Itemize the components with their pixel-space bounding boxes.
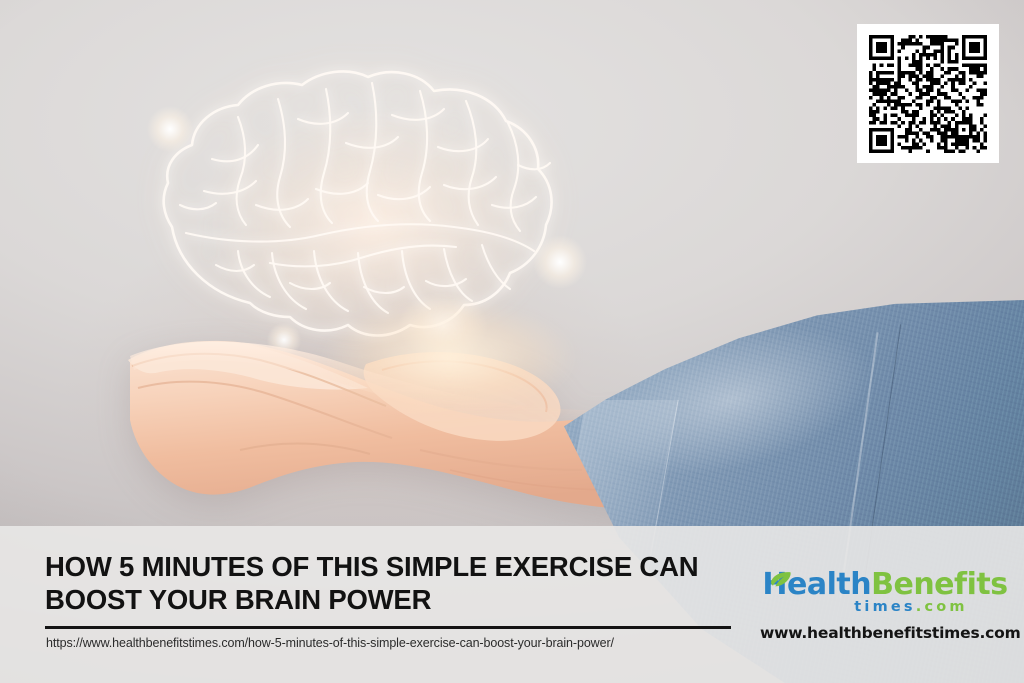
title-divider: [45, 626, 731, 629]
logo-word-benefits: Benefits: [871, 567, 1007, 602]
article-share-card: HOW 5 MINUTES OF THIS SIMPLE EXERCISE CA…: [0, 0, 1024, 683]
logo-word-health: Health: [762, 567, 871, 602]
site-logo[interactable]: HealthBenefits times.com www.healthbenef…: [760, 568, 1010, 642]
qr-code-icon[interactable]: [869, 35, 987, 153]
caption-band: HOW 5 MINUTES OF THIS SIMPLE EXERCISE CA…: [0, 526, 1024, 683]
source-url[interactable]: https://www.healthbenefitstimes.com/how-…: [46, 636, 614, 650]
page-title: HOW 5 MINUTES OF THIS SIMPLE EXERCISE CA…: [45, 550, 745, 616]
logo-domain[interactable]: www.healthbenefitstimes.com: [760, 624, 1010, 642]
qr-code-panel[interactable]: [857, 24, 999, 163]
logo-wordmark: HealthBenefits: [760, 568, 1010, 602]
